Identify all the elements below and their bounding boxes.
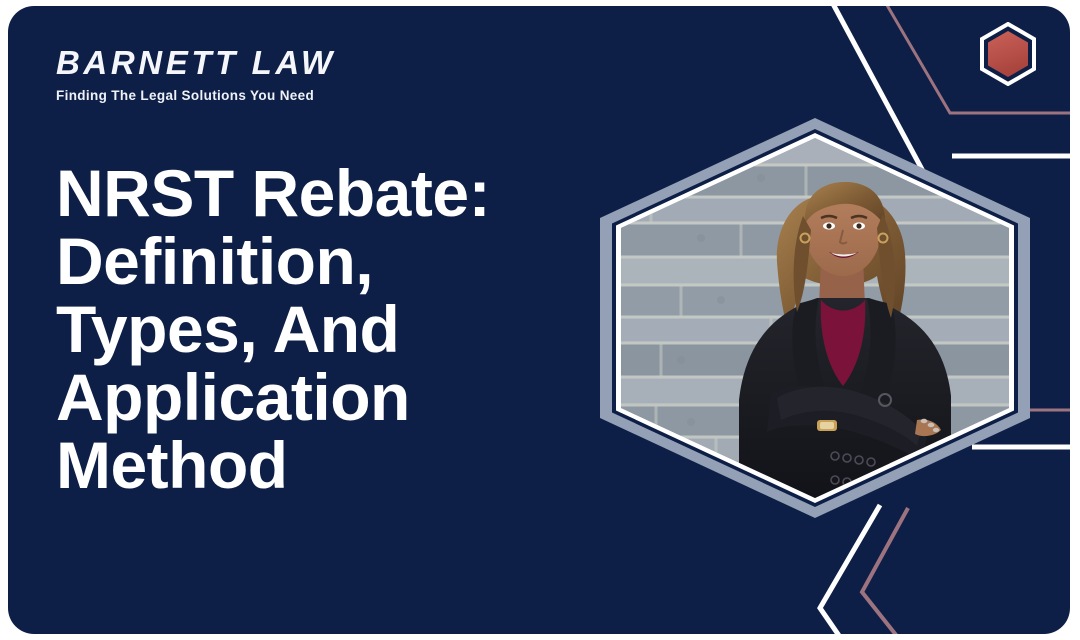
badge-fill [988,31,1028,77]
brand-lockup: BARNETT LAW Finding The Legal Solutions … [56,46,336,103]
brand-tagline: Finding The Legal Solutions You Need [56,88,336,103]
poster-canvas: BARNETT LAW Finding The Legal Solutions … [0,0,1080,640]
portrait-hexagon [600,118,1030,518]
headline-title: NRST Rebate: Definition, Types, And Appl… [56,160,576,500]
accent-hexagon-badge [978,22,1038,86]
brand-name: BARNETT LAW [56,46,336,81]
